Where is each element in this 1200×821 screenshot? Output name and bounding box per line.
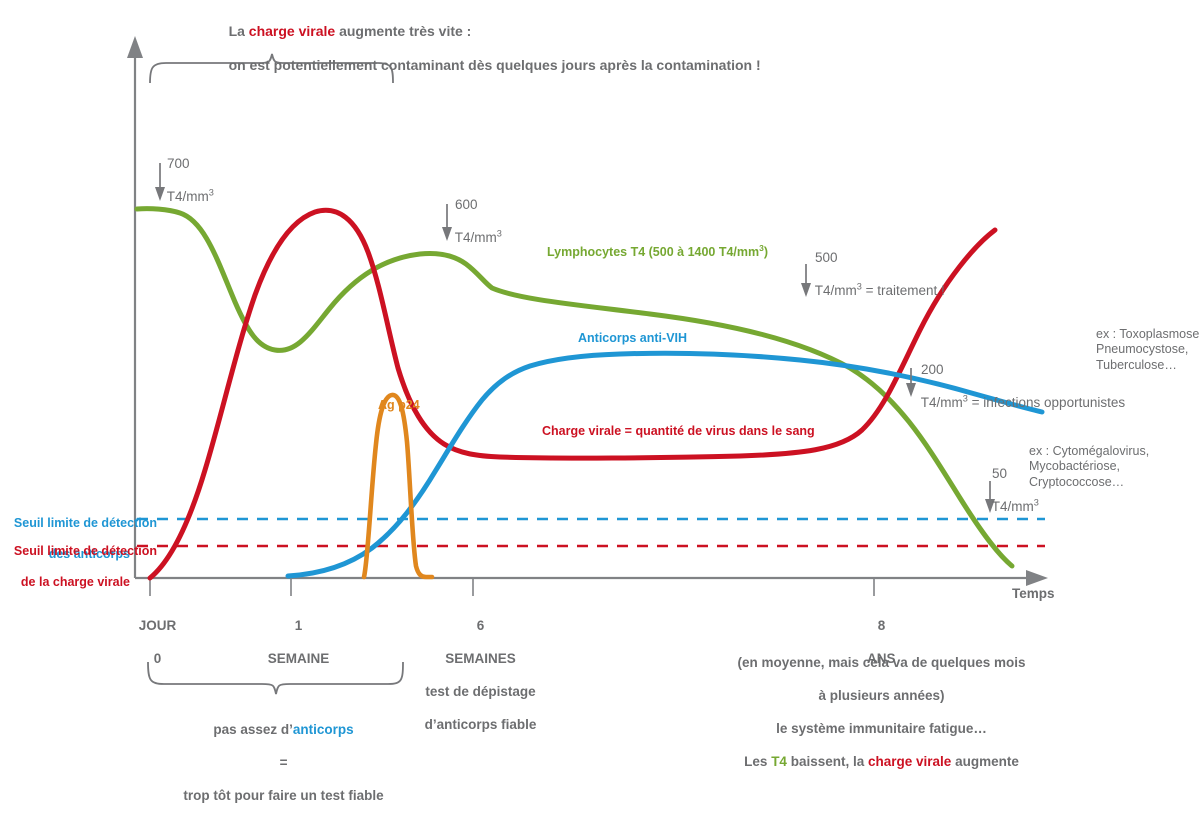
eight-years-note-l4-c: baissent, la: [787, 754, 868, 769]
threshold-lines: [137, 519, 1045, 546]
annotation-500-value: 500: [815, 250, 838, 265]
eight-years-note-charge-virale: charge virale: [868, 754, 951, 769]
annotation-200: 200 T4/mm3 = infections opportunistes: [906, 346, 1125, 428]
eight-years-note-l4-e: augmente: [951, 754, 1019, 769]
bottom-note: pas assez d’anticorps = trop tôt pour fa…: [126, 706, 426, 821]
axis-label-temps: Temps: [1012, 586, 1055, 602]
xtick-1-semaine-l2: SEMAINE: [268, 651, 330, 666]
annotation-500: 500 T4/mm3 = traitement !: [800, 234, 945, 316]
xtick-jour-0-l1: JOUR: [139, 618, 177, 633]
eight-years-note-l2: à plusieurs années): [818, 688, 944, 703]
xtick-6-semaines-sub1: test de dépistage: [425, 684, 535, 699]
top-note-line2: on est potentiellement contaminant dès q…: [229, 57, 761, 73]
eight-years-note-l4-a: Les: [744, 754, 771, 769]
annotation-600: 600 T4/mm3: [440, 181, 502, 263]
annotation-200-unit: T4/mm3 = infections opportunistes: [921, 395, 1125, 410]
top-note-line1-highlight: charge virale: [249, 23, 335, 39]
label-ag-p24: Ag p24: [378, 398, 420, 413]
label-threshold-viral-l2: de la charge virale: [21, 575, 130, 589]
annotation-700-value: 700: [167, 156, 190, 171]
eight-years-note-l3: le système immunitaire fatigue…: [776, 721, 987, 736]
eight-years-note-l1: (en moyenne, mais cela va de quelques mo…: [737, 655, 1025, 670]
top-note-line1-a: La: [229, 23, 249, 39]
label-anticorps: Anticorps anti-VIH: [578, 331, 687, 346]
annotation-600-unit: T4/mm3: [455, 230, 502, 245]
label-charge-virale: Charge virale = quantité de virus dans l…: [542, 424, 815, 439]
xtick-jour-0-l2: 0: [154, 651, 162, 666]
label-threshold-viral-l1: Seuil limite de détection: [14, 544, 157, 558]
xtick-jour-0: JOUR 0: [110, 602, 190, 684]
top-note-line1-c: augmente très vite :: [335, 23, 471, 39]
label-lymphocytes-t4: Lymphocytes T4 (500 à 1400 T4/mm3): [547, 245, 768, 260]
y-axis: [127, 36, 143, 578]
xtick-6-semaines-sub2: d’anticorps fiable: [425, 717, 537, 732]
xtick-6-semaines-l2: SEMAINES: [445, 651, 516, 666]
xtick-1-semaine: 1 SEMAINE: [231, 602, 351, 684]
annotation-700: 700 T4/mm3: [152, 140, 214, 222]
xtick-6-semaines-l1: 6: [477, 618, 485, 633]
bottom-note-l3: trop tôt pour faire un test fiable: [183, 788, 383, 803]
bottom-note-l1-a: pas assez d’: [213, 722, 293, 737]
bottom-note-anticorps: anticorps: [293, 722, 354, 737]
annotation-700-unit: T4/mm3: [167, 189, 214, 204]
annotation-500-unit: T4/mm3 = traitement !: [815, 283, 945, 298]
annotation-200-value: 200: [921, 362, 944, 377]
top-note: La charge virale augmente très vite : on…: [213, 6, 761, 91]
xtick-1-semaine-l1: 1: [295, 618, 303, 633]
annotation-50-unit: T4/mm3: [992, 499, 1039, 514]
x-axis: [135, 570, 1048, 596]
examples-opportunistic-50: ex : Cytomégalovirus,Mycobactériose,Cryp…: [1029, 444, 1149, 490]
eight-years-note-t4: T4: [771, 754, 787, 769]
annotation-50-value: 50: [992, 466, 1007, 481]
annotation-600-value: 600: [455, 197, 478, 212]
label-threshold-viral: Seuil limite de détection de la charge v…: [0, 529, 130, 605]
eight-years-note: (en moyenne, mais cela va de quelques mo…: [624, 639, 1124, 787]
hiv-progression-chart: La charge virale augmente très vite : on…: [0, 0, 1200, 758]
xtick-8-ans-l1: 8: [878, 618, 886, 633]
examples-opportunistic-200: ex : Toxoplasmose,Pneumocystose,Tubercul…: [1096, 327, 1200, 373]
